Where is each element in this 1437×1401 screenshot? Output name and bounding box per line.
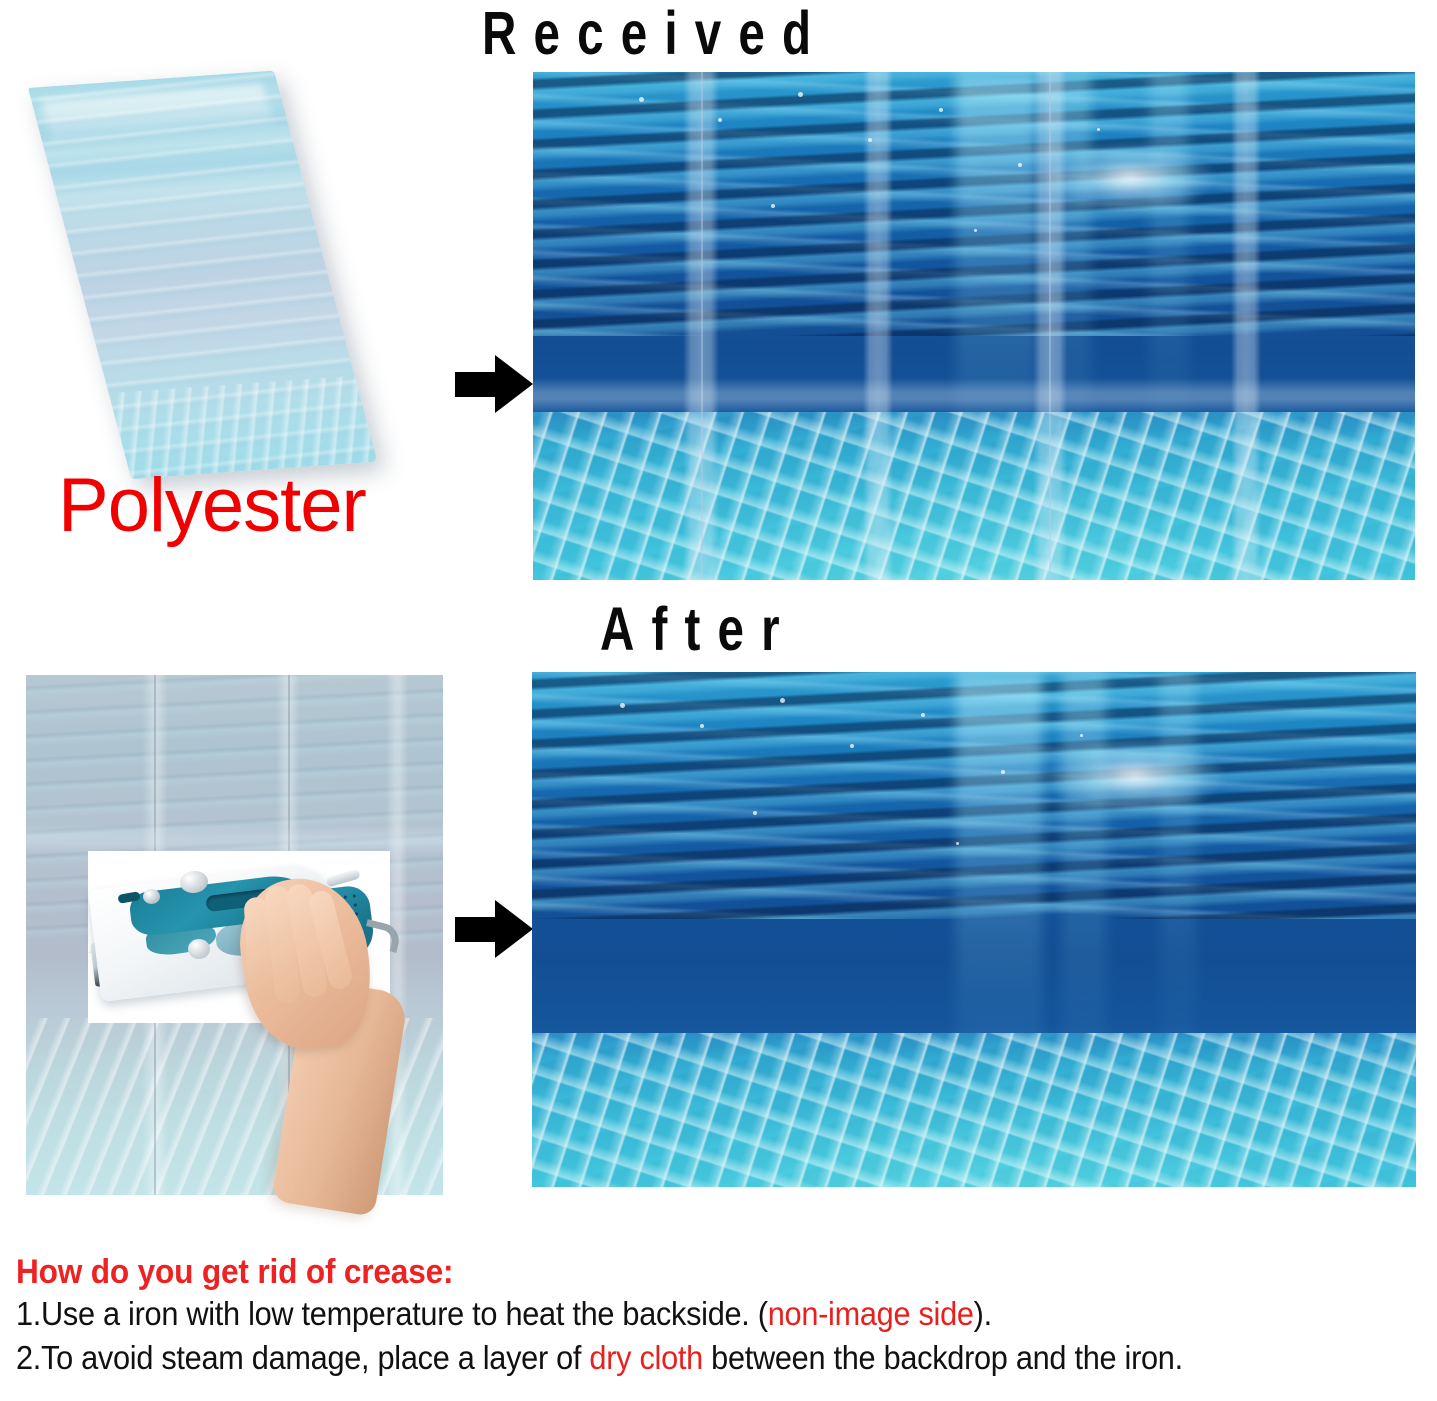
heading-received: Received <box>482 0 828 68</box>
caustic-light-pattern <box>533 412 1415 580</box>
instruction-line-1-part-b: ). <box>974 1295 992 1332</box>
arrow-head <box>495 355 533 413</box>
iron-lever <box>325 869 360 888</box>
instruction-line-1-highlight: non-image side <box>768 1295 974 1332</box>
photo-after <box>532 672 1416 1187</box>
instruction-line-2: 2.To avoid steam damage, place a layer o… <box>16 1336 1337 1380</box>
arrow-head <box>495 900 533 958</box>
instruction-line-2-highlight: dry cloth <box>589 1339 702 1376</box>
iron-temperature-dial <box>188 939 210 959</box>
instructions-block: How do you get rid of crease: 1.Use a ir… <box>16 1252 1436 1379</box>
arrow-shaft <box>455 917 499 942</box>
instruction-line-2-part-a: 2.To avoid steam damage, place a layer o… <box>16 1339 589 1376</box>
instruction-line-1-part-a: 1.Use a iron with low temperature to hea… <box>16 1295 768 1332</box>
caustic-light-pattern <box>532 1033 1416 1188</box>
polyester-fabric-swatch <box>28 71 377 479</box>
surface-glare <box>1045 143 1215 213</box>
surface-glare <box>1045 739 1225 813</box>
sea-floor <box>533 412 1415 580</box>
polyester-label: Polyester <box>58 462 366 549</box>
iron-spray-button <box>143 889 160 904</box>
heading-after: After <box>600 594 797 664</box>
underwater-scene <box>533 72 1415 580</box>
right-arrow-icon <box>455 355 533 413</box>
right-arrow-icon <box>455 900 533 958</box>
photo-received <box>533 72 1415 580</box>
infographic-page: Received Polyester <box>0 0 1437 1401</box>
arrow-shaft <box>455 372 499 397</box>
instruction-line-2-part-b: between the backdrop and the iron. <box>703 1339 1183 1376</box>
instruction-line-1: 1.Use a iron with low temperature to hea… <box>16 1292 1337 1336</box>
underwater-scene <box>532 672 1416 1187</box>
instructions-title: How do you get rid of crease: <box>16 1252 1337 1292</box>
sea-floor <box>532 1033 1416 1188</box>
